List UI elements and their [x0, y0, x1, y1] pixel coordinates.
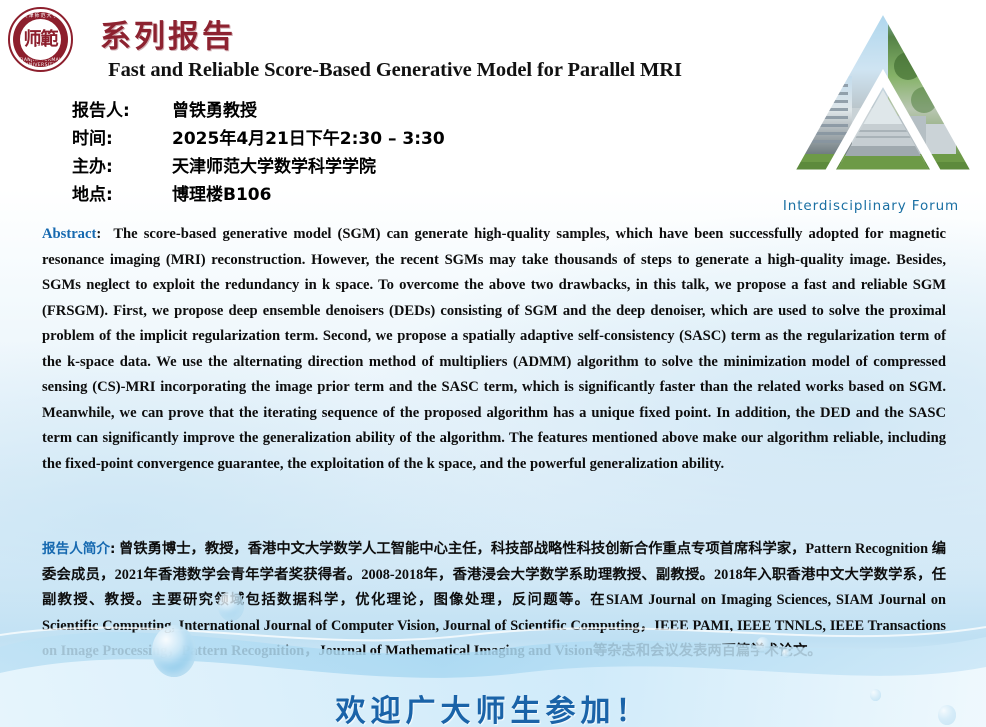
speaker-bio-section: 报告人简介: 曾铁勇博士，教授，香港中文大学数学人工智能中心主任，科技部战略性科…	[42, 537, 946, 665]
info-value-organizer: 天津师范大学数学科学学院	[172, 152, 376, 177]
info-value-venue: 博理楼B106	[172, 180, 271, 205]
info-label-time: 时间:	[72, 124, 172, 149]
info-label-venue: 地点:	[72, 180, 172, 205]
forum-caption: Interdisciplinary Forum	[766, 198, 976, 214]
logo-inner-disc: 师範 1958	[19, 18, 62, 61]
talk-info-table: 报告人: 曾铁勇教授 时间: 2025年4月21日下午2:30 – 3:30 主…	[72, 96, 445, 208]
abstract-separator: :	[96, 226, 101, 242]
abstract-body: The score-based generative model (SGM) c…	[42, 226, 946, 472]
bio-separator: :	[110, 541, 115, 557]
bio-body: 曾铁勇博士，教授，香港中文大学数学人工智能中心主任，科技部战略性科技创新合作重点…	[42, 541, 946, 659]
series-title: 系列报告	[100, 11, 236, 56]
interdisciplinary-forum-triangle-logo	[788, 4, 978, 197]
logo-year-text: 1958	[20, 42, 61, 48]
info-label-speaker: 报告人:	[72, 96, 172, 121]
info-row-time: 时间: 2025年4月21日下午2:30 – 3:30	[72, 124, 445, 152]
info-value-time: 2025年4月21日下午2:30 – 3:30	[172, 124, 445, 149]
abstract-label: Abstract	[42, 226, 96, 242]
welcome-text: 欢迎广大师生参加！	[0, 686, 986, 727]
info-value-speaker: 曾铁勇教授	[172, 96, 257, 121]
abstract-section: Abstract: The score-based generative mod…	[42, 222, 946, 477]
page-title: Fast and Reliable Score-Based Generative…	[0, 59, 790, 82]
seminar-poster: 天津师范大学 TIANJIN NORMAL UNIVERSITY 师範 1958…	[0, 0, 986, 727]
info-row-speaker: 报告人: 曾铁勇教授	[72, 96, 445, 124]
info-label-organizer: 主办:	[72, 152, 172, 177]
info-row-venue: 地点: 博理楼B106	[72, 180, 445, 208]
bio-label: 报告人简介	[42, 541, 110, 557]
info-row-organizer: 主办: 天津师范大学数学科学学院	[72, 152, 445, 180]
triangle-logo-graphic	[788, 4, 978, 197]
